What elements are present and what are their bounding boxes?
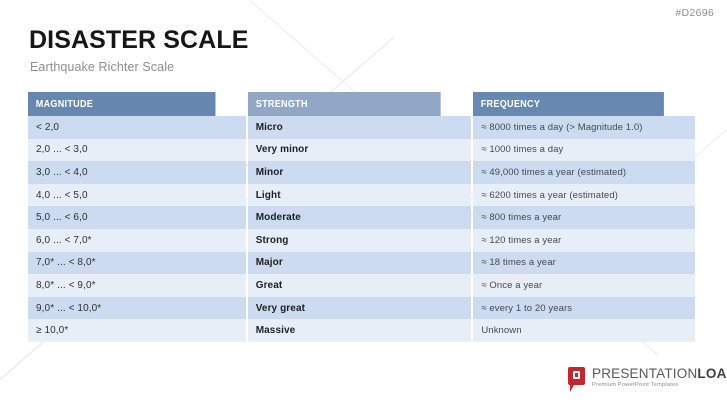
cell-strength: Moderate [248,206,472,229]
cell-strength: Massive [248,319,472,342]
cell-strength: Major [248,252,472,275]
column-header-strength: STRENGTH [248,92,440,116]
column-header-frequency: FREQUENCY [473,92,664,116]
document-id-label: #D2696 [675,7,714,19]
logo-brand-light: PRESENTATION [592,366,697,381]
table-header: MAGNITUDE STRENGTH FREQUENCY [28,92,695,116]
cell-frequency: ≈ Once a year [473,274,695,297]
cell-frequency: ≈ 800 times a year [473,206,695,229]
table-row: ≥ 10,0*MassiveUnknown [28,319,695,342]
logo-brand-bold: LOAD [697,366,727,381]
cell-frequency: ≈ 49,000 times a year (estimated) [473,161,695,184]
slide-canvas: #D2696 DISASTER SCALE Earthquake Richter… [0,0,727,409]
cell-magnitude: 9,0* ... < 10,0* [28,297,246,320]
logo-brand-text: PRESENTATIONLOAD® [592,367,727,381]
table-row: 5,0 ... < 6,0Moderate≈ 800 times a year [28,206,695,229]
table-row: 4,0 ... < 5,0Light≈ 6200 times a year (e… [28,184,695,207]
cell-strength: Very minor [248,139,472,162]
cell-magnitude: 5,0 ... < 6,0 [28,206,246,229]
cell-frequency: ≈ 18 times a year [473,252,695,275]
cell-frequency: ≈ 8000 times a day (> Magnitude 1.0) [473,116,695,139]
column-header-magnitude: MAGNITUDE [28,92,215,116]
cell-strength: Micro [248,116,472,139]
table-row: 9,0* ... < 10,0*Very great≈ every 1 to 2… [28,297,695,320]
cell-strength: Strong [248,229,472,252]
table-body: < 2,0Micro≈ 8000 times a day (> Magnitud… [28,116,695,342]
table-row: < 2,0Micro≈ 8000 times a day (> Magnitud… [28,116,695,139]
cell-magnitude: 3,0 ... < 4,0 [28,161,246,184]
table-header-row: MAGNITUDE STRENGTH FREQUENCY [28,92,695,116]
page-title: DISASTER SCALE [29,28,248,53]
cell-magnitude: 6,0 ... < 7,0* [28,229,246,252]
presentationload-logo: PRESENTATIONLOAD® Premium PowerPoint Tem… [568,366,727,389]
cell-frequency: ≈ 1000 times a day [473,139,695,162]
cell-magnitude: 8,0* ... < 9,0* [28,274,246,297]
table-row: 6,0 ... < 7,0*Strong≈ 120 times a year [28,229,695,252]
table-row: 3,0 ... < 4,0Minor≈ 49,000 times a year … [28,161,695,184]
disaster-scale-table: MAGNITUDE STRENGTH FREQUENCY < 2,0Micro≈… [28,92,695,342]
cell-frequency: ≈ 6200 times a year (estimated) [473,184,695,207]
speech-bubble-icon [568,367,585,385]
cell-strength: Great [248,274,472,297]
cell-strength: Very great [248,297,472,320]
table-row: 7,0* ... < 8,0*Major≈ 18 times a year [28,252,695,275]
table-row: 2,0 ... < 3,0Very minor≈ 1000 times a da… [28,139,695,162]
cell-frequency: Unknown [473,319,695,342]
page-subtitle: Earthquake Richter Scale [30,60,174,74]
cell-magnitude: < 2,0 [28,116,246,139]
cell-magnitude: 2,0 ... < 3,0 [28,139,246,162]
cell-strength: Minor [248,161,472,184]
cell-magnitude: 7,0* ... < 8,0* [28,252,246,275]
cell-magnitude: ≥ 10,0* [28,319,246,342]
logo-tagline: Premium PowerPoint Templates [592,383,727,389]
cell-strength: Light [248,184,472,207]
cell-frequency: ≈ 120 times a year [473,229,695,252]
cell-frequency: ≈ every 1 to 20 years [473,297,695,320]
table-row: 8,0* ... < 9,0*Great≈ Once a year [28,274,695,297]
cell-magnitude: 4,0 ... < 5,0 [28,184,246,207]
